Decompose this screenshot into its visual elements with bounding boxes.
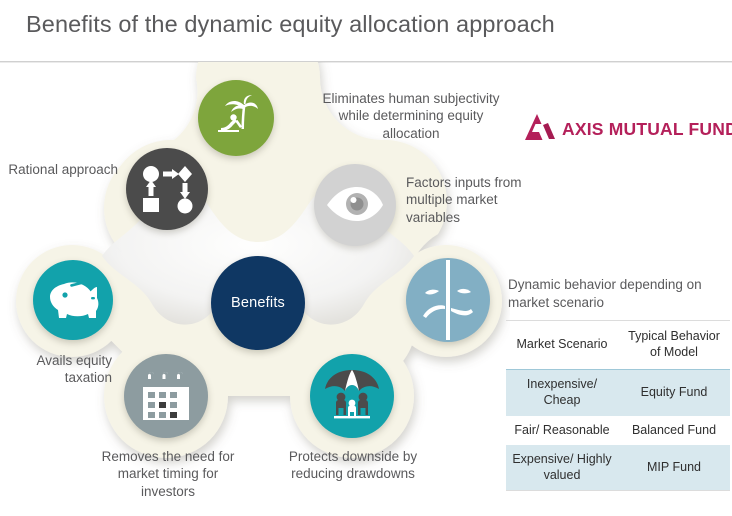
scenario-caption: Dynamic behavior depending on market sce… — [508, 276, 732, 311]
brand-logo-text: AXIS MUTUAL FUND — [562, 119, 732, 140]
scenario-table: Market Scenario Typical Behavior of Mode… — [506, 320, 730, 491]
cell-scenario: Fair/ Reasonable — [506, 416, 618, 446]
column-header-typical-behavior: Typical Behavior of Model — [618, 321, 730, 370]
node-calendar[interactable] — [124, 354, 208, 438]
cell-scenario: Inexpensive/ Cheap — [506, 370, 618, 416]
eye-icon — [325, 187, 385, 223]
node-piggybank[interactable] — [33, 260, 113, 340]
theatre-masks-icon — [413, 260, 483, 340]
callout-piggybank: Avails equity taxation — [0, 352, 112, 387]
axis-a-mark-icon — [522, 112, 556, 147]
callout-calendar: Removes the need for market timing for i… — [96, 448, 240, 500]
flowchart-shapes-icon — [141, 164, 193, 214]
palm-tree-relax-icon — [213, 95, 259, 141]
center-label: Benefits — [231, 295, 285, 311]
brand-logo: AXIS MUTUAL FUND — [522, 112, 732, 147]
callout-eye: Factors inputs from multiple market vari… — [406, 174, 538, 226]
cell-behavior: Equity Fund — [618, 370, 730, 416]
callout-beach: Eliminates human subjectivity while dete… — [310, 90, 512, 142]
node-masks[interactable] — [406, 258, 490, 342]
umbrella-family-icon — [323, 370, 381, 422]
slide-header: Benefits of the dynamic equity allocatio… — [0, 0, 732, 62]
node-umbrella[interactable] — [310, 354, 394, 438]
callout-flowchart: Rational approach — [8, 161, 118, 178]
table-row: Inexpensive/ Cheap Equity Fund — [506, 370, 730, 416]
node-eye[interactable] — [314, 164, 396, 246]
benefits-diagram: Eliminates human subjectivity while dete… — [0, 62, 510, 516]
callout-umbrella: Protects downside by reducing drawdowns — [285, 448, 421, 483]
cell-behavior: Balanced Fund — [618, 416, 730, 446]
node-center-benefits[interactable]: Benefits — [211, 256, 305, 350]
table-row: Expensive/ Highly valued MIP Fund — [506, 445, 730, 491]
calendar-icon — [140, 370, 192, 422]
page-title: Benefits of the dynamic equity allocatio… — [26, 11, 555, 38]
node-beach[interactable] — [198, 80, 274, 156]
node-flowchart[interactable] — [126, 148, 208, 230]
piggy-bank-icon — [46, 278, 100, 322]
cell-behavior: MIP Fund — [618, 445, 730, 491]
table-row: Fair/ Reasonable Balanced Fund — [506, 416, 730, 446]
table-header-row: Market Scenario Typical Behavior of Mode… — [506, 321, 730, 370]
scenario-panel: Dynamic behavior depending on market sce… — [506, 276, 732, 491]
column-header-market-scenario: Market Scenario — [506, 321, 618, 370]
cell-scenario: Expensive/ Highly valued — [506, 445, 618, 491]
